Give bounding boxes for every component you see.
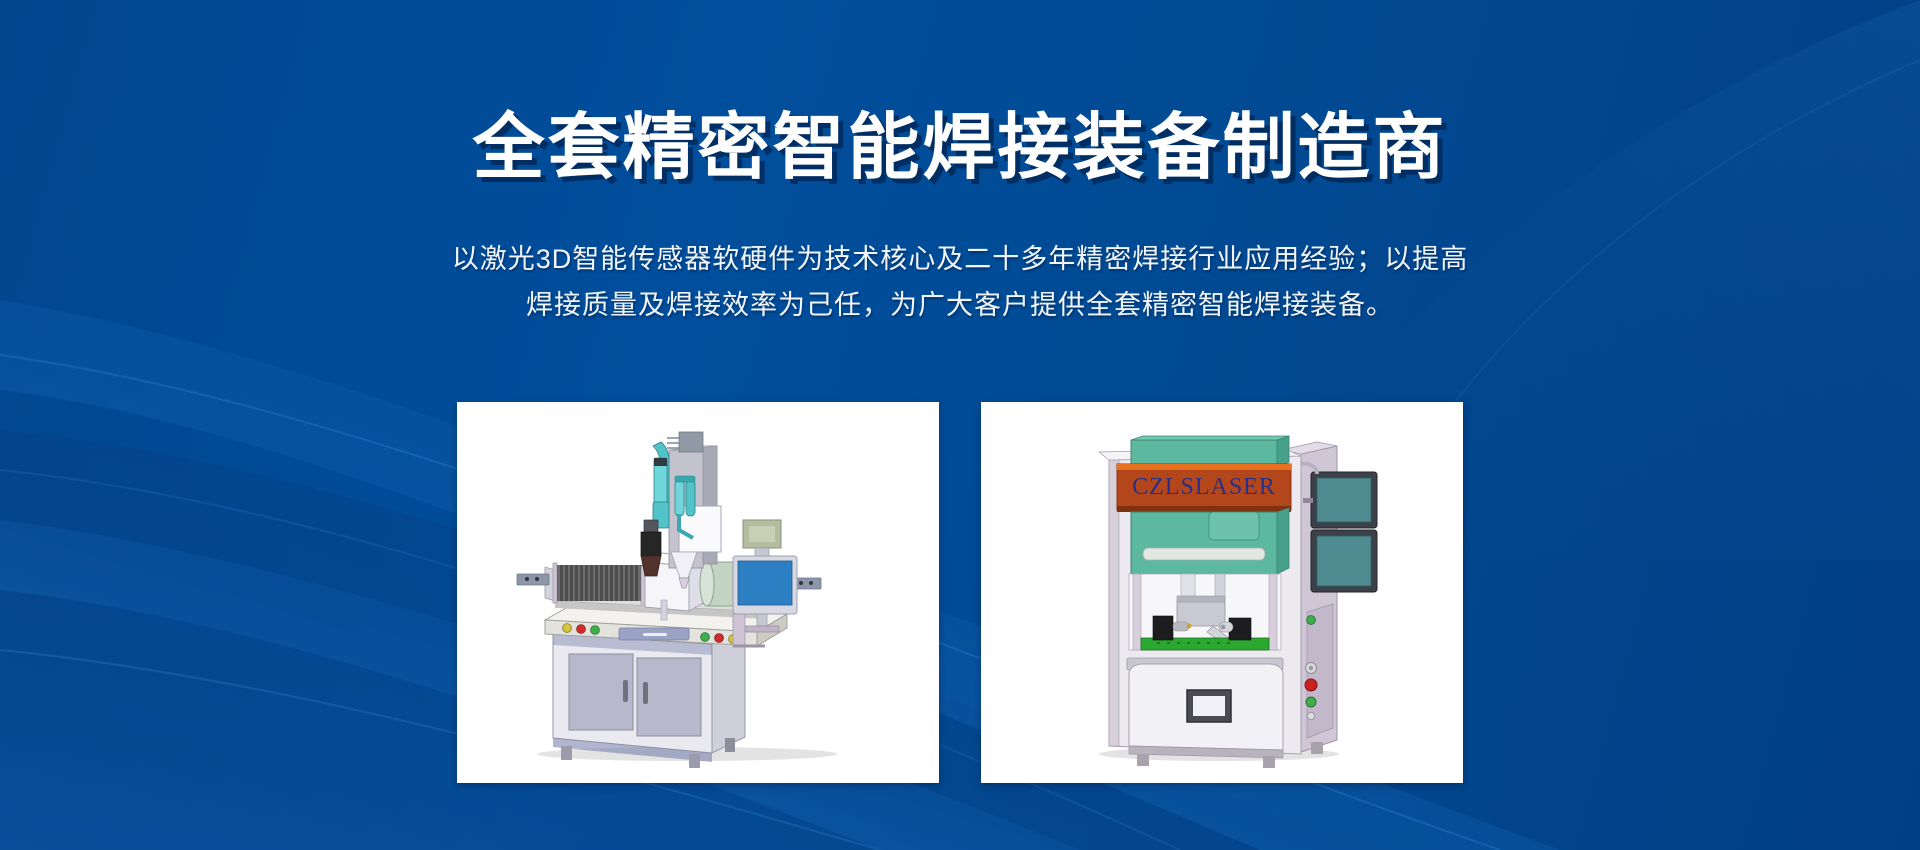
indicator-lamp-yellow xyxy=(563,624,572,633)
brand-banner: CZLSLASER xyxy=(1117,464,1291,512)
hero-subtitle-container: 以激光3D智能传感器软硬件为技术核心及二十多年精密焊接行业应用经验；以提高 焊接… xyxy=(0,236,1920,328)
work-chamber xyxy=(1129,574,1281,650)
upper-enclosure xyxy=(1131,436,1289,468)
hero-title-container: 全套精密智能焊接装备制造商 xyxy=(0,58,1920,239)
hero-banner: 全套精密智能焊接装备制造商 以激光3D智能传感器软硬件为技术核心及二十多年精密焊… xyxy=(0,0,1920,850)
hero-subtitle-line-1: 以激光3D智能传感器软硬件为技术核心及二十多年精密焊接行业应用经验；以提高 xyxy=(0,236,1920,282)
start-button-green xyxy=(1306,697,1316,707)
brand-label: CZLSLASER xyxy=(1132,474,1276,500)
enclosed-laser-welding-machine-illustration: CZLSLASER xyxy=(981,402,1463,783)
indicator-lamp-green xyxy=(591,626,600,635)
page-title: 全套精密智能焊接装备制造商 xyxy=(472,106,1447,191)
product-card-enclosed-laser-welding-machine[interactable]: CZLSLASER xyxy=(981,402,1463,783)
indicator-lamp-red xyxy=(577,625,586,634)
door-handle-bar xyxy=(1143,548,1265,560)
viewing-window-panel xyxy=(1131,508,1289,574)
stop-button-red xyxy=(1305,679,1317,691)
product-card-gantry-laser-welding-machine[interactable]: 精密龙门式激光焊接机 xyxy=(457,402,939,783)
product-image-gallery: 精密龙门式激光焊接机 xyxy=(0,402,1920,783)
status-lamp-green xyxy=(1307,616,1316,625)
gantry-laser-welding-machine-illustration xyxy=(457,402,939,783)
hero-subtitle-line-2: 焊接质量及焊接效率为己任，为广大客户提供全套精密智能焊接装备。 xyxy=(0,282,1920,328)
